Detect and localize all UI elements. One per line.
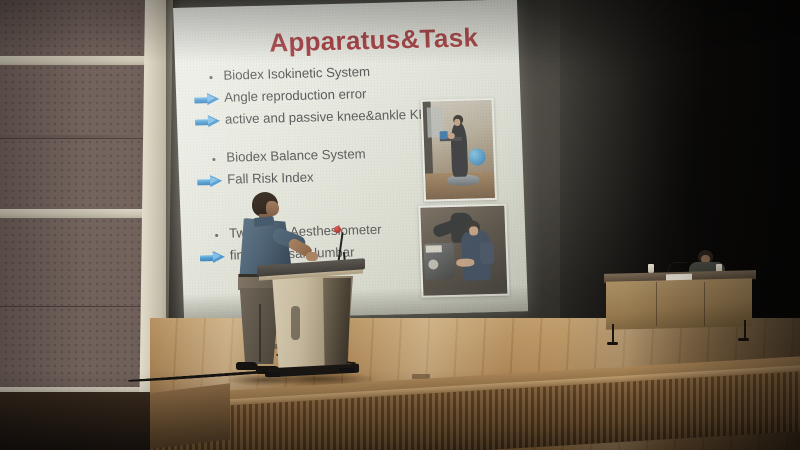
presenter-shoe [236,362,258,370]
bullet-dot-icon [212,158,215,161]
table-front-panel [606,278,752,330]
stage-left-dark-corner [0,392,150,450]
slide-title: Apparatus&Task [269,22,479,58]
presenter-hand [306,252,318,261]
blue-arrow-icon [195,115,221,129]
presentation-photo-scene: Apparatus&Task Biodex Isokinetic System … [0,0,800,450]
slide-photo-isokinetic-system [418,204,509,298]
podium [265,262,361,382]
moderator-table-group [604,256,764,348]
microphone-head-icon [334,226,341,233]
slide-line-text: Biodex Isokinetic System [223,64,370,83]
blue-arrow-icon [197,175,223,189]
slide-line-text: active and passive knee&ankle KPS [225,106,437,126]
slide-line-text: Angle reproduction error [224,86,367,105]
blue-arrow-icon [194,93,220,107]
bullet-dot-icon [209,76,212,79]
podium-notch [291,306,300,340]
slide-photo-balance-system [420,98,497,202]
podium-side-panel [323,278,351,370]
slide-line-text: Biodex Balance System [226,146,366,165]
slide-line-text: Fall Risk Index [227,169,314,186]
blue-arrow-icon [200,251,226,265]
bullet-dot-icon [215,234,218,237]
left-wall-acoustic-panels [0,0,150,420]
